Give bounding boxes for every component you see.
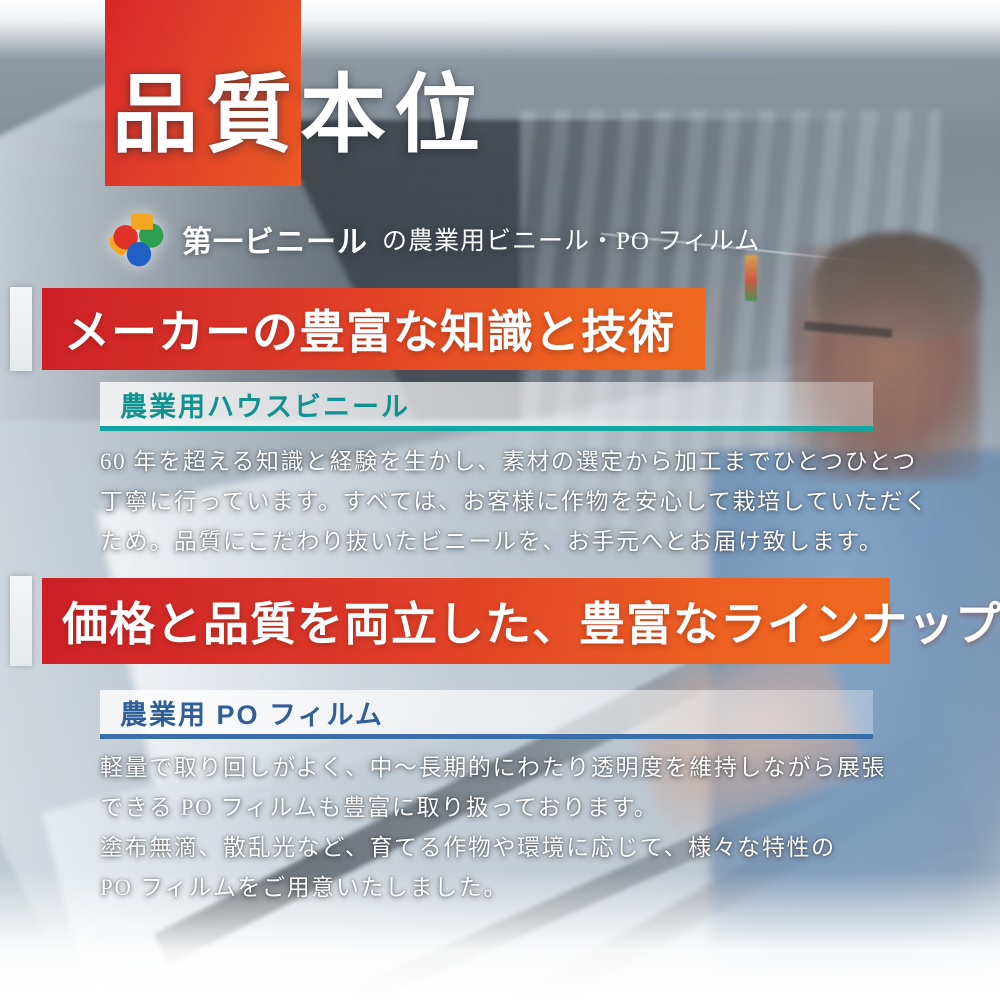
brand-row: 第一ビニール の農業用ビニール・PO フィルム <box>110 210 760 268</box>
accent-bar-section-1 <box>10 287 32 371</box>
hero-title-rest-part: 本位 <box>300 67 488 163</box>
section-2-headline: 価格と品質を両立した、豊富なラインナップ <box>42 588 1000 654</box>
brand-tagline: の農業用ビニール・PO フィルム <box>382 221 760 257</box>
section-2-subheading: 農業用 PO フィルム <box>100 693 384 732</box>
page-title: 品質本位 <box>112 72 488 158</box>
paragraph-line: 丁寧に行っています。すべては、お客様に作物を安心して栽培していただく <box>100 482 900 522</box>
section-1-subheading-bar: 農業用ハウスビニール <box>100 382 873 431</box>
promo-banner: 品質本位 第一ビニール の農業用ビニール・PO フィルム メーカーの豊富な知識と… <box>0 0 1000 1000</box>
paragraph-line: 塗布無滴、散乱光など、育てる作物や環境に応じて、様々な特性の <box>100 828 900 868</box>
hero-title-badge-part: 品質 <box>112 67 300 163</box>
accent-bar-section-2 <box>10 576 32 666</box>
section-1-paragraph: 60 年を超える知識と経験を生かし、素材の選定から加工までひとつひとつ 丁寧に行… <box>100 442 900 562</box>
paragraph-line: 軽量で取り回しがよく、中〜長期的にわたり透明度を維持しながら展張 <box>100 748 900 788</box>
section-1-subheading: 農業用ハウスビニール <box>100 385 410 424</box>
paragraph-line: ため。品質にこだわり抜いたビニールを、お手元へとお届け致します。 <box>100 522 900 562</box>
section-2-paragraph: 軽量で取り回しがよく、中〜長期的にわたり透明度を維持しながら展張 できる PO … <box>100 748 900 908</box>
section-1-headline: メーカーの豊富な知識と技術 <box>42 296 675 362</box>
four-petal-flower-logo-icon <box>110 210 168 268</box>
paragraph-line: できる PO フィルムも豊富に取り扱っております。 <box>100 788 900 828</box>
section-2-headline-band: 価格と品質を両立した、豊富なラインナップ <box>42 578 890 664</box>
section-1-headline-band: メーカーの豊富な知識と技術 <box>42 288 705 370</box>
banner-content: 品質本位 第一ビニール の農業用ビニール・PO フィルム メーカーの豊富な知識と… <box>0 0 1000 1000</box>
brand-name: 第一ビニール <box>182 217 368 261</box>
paragraph-line: PO フィルムをご用意いたしました。 <box>100 868 900 908</box>
paragraph-line: 60 年を超える知識と経験を生かし、素材の選定から加工までひとつひとつ <box>100 442 900 482</box>
section-2-subheading-bar: 農業用 PO フィルム <box>100 690 873 739</box>
